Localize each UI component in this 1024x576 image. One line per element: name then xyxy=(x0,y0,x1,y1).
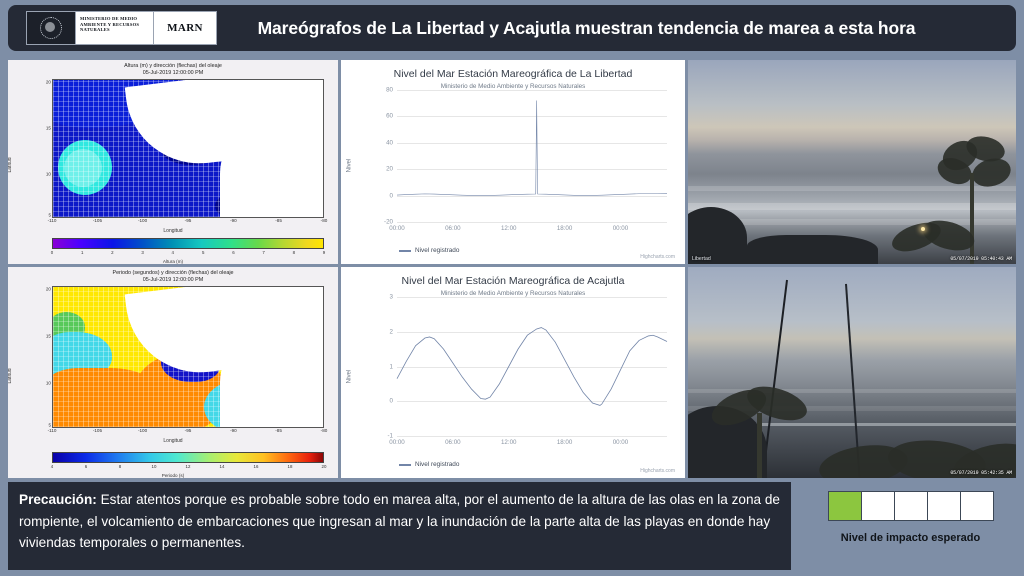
libertad-y-axis-label: Nivel xyxy=(346,159,353,173)
libertad-legend[interactable]: Nivel registrado xyxy=(399,247,459,254)
x-tick-label: 00:00 xyxy=(613,439,628,446)
gridline xyxy=(397,222,667,223)
legend-line-swatch xyxy=(399,250,411,252)
wave-height-y-label: Latitud xyxy=(8,157,13,172)
impact-level-indicator: Nivel de impacto esperado xyxy=(805,482,1016,570)
wave-height-map-plot xyxy=(52,79,324,218)
marn-acronym: MARN xyxy=(154,12,216,44)
acajutla-legend[interactable]: Nivel registrado xyxy=(399,461,459,468)
palm-tree xyxy=(708,389,820,478)
libertad-chart-title: Nivel del Mar Estación Mareográfica de L… xyxy=(341,68,685,80)
libertad-webcam-image: Libertad 05/07/2019 05:40:43 AM xyxy=(688,60,1016,264)
impact-level-box[interactable] xyxy=(927,491,961,521)
y-tick-label: 0 xyxy=(390,192,393,199)
wave-height-colorbar-title: Altura (m) xyxy=(8,259,338,264)
y-tick-label: 80 xyxy=(386,87,393,94)
acajutla-webcam-timestamp: 05/07/2019 05:42:35 AM xyxy=(950,470,1012,476)
caption-body: Estar atentos porque es probable sobre t… xyxy=(19,492,780,550)
libertad-series-line xyxy=(397,90,667,222)
legend-line-swatch xyxy=(399,464,411,466)
wave-period-y-label: Latitud xyxy=(8,368,13,383)
wave-period-colorbar-title: Periodo (s) xyxy=(8,473,338,478)
libertad-y-ticks: -20020406080 xyxy=(371,90,393,222)
impact-level-box[interactable] xyxy=(894,491,928,521)
ministry-name: MINISTERIO DE MEDIO AMBIENTE Y RECURSOS … xyxy=(76,12,154,44)
el-salvador-coat-of-arms-icon xyxy=(27,12,76,44)
acajutla-webcam-panel: 05/07/2019 05:42:35 AM xyxy=(688,267,1016,478)
acajutla-chart-title: Nivel del Mar Estación Mareográfica de A… xyxy=(341,275,685,287)
legend-label: Nivel registrado xyxy=(415,461,459,468)
x-tick-label: 00:00 xyxy=(389,439,404,446)
x-tick-label: 12:00 xyxy=(501,225,516,232)
acajutla-chart-credit[interactable]: Highcharts.com xyxy=(640,468,675,474)
wave-height-x-ticks: -110-105 -100-95 -90-85 -80 xyxy=(52,218,324,225)
impact-level-label: Nivel de impacto esperado xyxy=(841,532,980,544)
x-tick-label: 00:00 xyxy=(389,225,404,232)
impact-level-scale[interactable] xyxy=(828,491,993,521)
acajutla-plot-area xyxy=(397,297,667,436)
wave-height-map-title: Altura (m) y dirección (flechas) del ole… xyxy=(8,63,338,76)
impact-level-box[interactable] xyxy=(861,491,895,521)
y-tick-label: 3 xyxy=(390,294,393,301)
content-grid: Altura (m) y dirección (flechas) del ole… xyxy=(8,60,1016,478)
acajutla-y-axis-label: Nivel xyxy=(346,369,353,383)
acajutla-webcam-image: 05/07/2019 05:42:35 AM xyxy=(688,267,1016,478)
y-tick-label: 20 xyxy=(386,166,393,173)
acajutla-x-ticks: 00:0006:0012:0018:0000:00 xyxy=(397,439,667,448)
libertad-plot-area xyxy=(397,90,667,222)
y-tick-label: 1 xyxy=(390,363,393,370)
gridline xyxy=(397,436,667,437)
wave-period-x-ticks: -110-105 -100-95 -90-85 -80 xyxy=(52,428,324,435)
y-tick-label: 40 xyxy=(386,139,393,146)
x-tick-label: 18:00 xyxy=(557,225,572,232)
acajutla-series-line xyxy=(397,297,667,436)
wave-period-y-ticks: 2015 105 xyxy=(38,286,51,428)
wave-height-colorbar xyxy=(52,238,324,249)
wave-height-colorbar-ticks: 01 23 45 67 89 xyxy=(52,250,324,257)
marn-logo: MINISTERIO DE MEDIO AMBIENTE Y RECURSOS … xyxy=(26,11,217,45)
impact-level-box[interactable] xyxy=(960,491,994,521)
wave-period-x-label: Longitud xyxy=(8,438,338,444)
x-tick-label: 06:00 xyxy=(445,439,460,446)
y-tick-label: 0 xyxy=(390,398,393,405)
y-tick-label: 60 xyxy=(386,113,393,120)
impact-level-box[interactable] xyxy=(828,491,862,521)
wave-height-x-label: Longitud xyxy=(8,228,338,234)
libertad-webcam-timestamp: 05/07/2019 05:40:43 AM xyxy=(950,256,1012,262)
libertad-chart-credit[interactable]: Highcharts.com xyxy=(640,254,675,260)
wave-height-map-panel: Altura (m) y dirección (flechas) del ole… xyxy=(8,60,338,264)
acajutla-y-ticks: -10123 xyxy=(371,297,393,436)
legend-label: Nivel registrado xyxy=(415,247,459,254)
libertad-chart-panel: Nivel del Mar Estación Mareográfica de L… xyxy=(341,60,685,264)
page-header: MINISTERIO DE MEDIO AMBIENTE Y RECURSOS … xyxy=(8,5,1016,51)
wave-period-colorbar-ticks: 46 810 1214 1618 20 xyxy=(52,464,324,471)
land-mass-east xyxy=(285,99,324,195)
land-mass-east xyxy=(285,307,324,405)
x-tick-label: 18:00 xyxy=(557,439,572,446)
precaution-caption: Precaución: Estar atentos porque es prob… xyxy=(8,482,791,570)
acajutla-chart-panel: Nivel del Mar Estación Mareográfica de A… xyxy=(341,267,685,478)
wave-height-y-ticks: 2015 105 xyxy=(38,79,51,218)
libertad-webcam-label: Libertad xyxy=(692,256,711,262)
x-tick-label: 06:00 xyxy=(445,225,460,232)
x-tick-label: 12:00 xyxy=(501,439,516,446)
libertad-x-ticks: 00:0006:0012:0018:0000:00 xyxy=(397,225,667,234)
wave-period-map-panel: Periodo (segundos) y dirección (flechas)… xyxy=(8,267,338,478)
caption-lead: Precaución: xyxy=(19,492,97,507)
shoreline-rocks xyxy=(747,235,878,264)
page-title: Mareógrafos de La Libertad y Acajutla mu… xyxy=(217,18,1016,39)
wave-period-map-title: Periodo (segundos) y dirección (flechas)… xyxy=(8,270,338,283)
wave-period-map-plot xyxy=(52,286,324,428)
libertad-webcam-panel: Libertad 05/07/2019 05:40:43 AM xyxy=(688,60,1016,264)
y-tick-label: 2 xyxy=(390,328,393,335)
wave-period-colorbar xyxy=(52,452,324,463)
x-tick-label: 00:00 xyxy=(613,225,628,232)
